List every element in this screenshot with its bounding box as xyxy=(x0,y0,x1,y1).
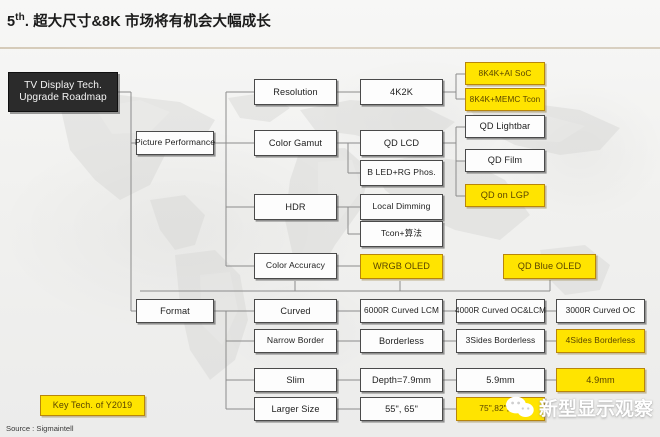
node-6000r-curved-lcm[interactable]: 6000R Curved LCM xyxy=(360,299,443,323)
node-3000r-curved-oc[interactable]: 3000R Curved OC xyxy=(556,299,645,323)
node-picture-performance[interactable]: Picture Performance xyxy=(136,131,214,155)
node-3sides-borderless[interactable]: 3Sides Borderless xyxy=(456,329,545,353)
node-4000r-curved-oc-lcm[interactable]: 4000R Curved OC&LCM xyxy=(456,299,545,323)
node-resolution[interactable]: Resolution xyxy=(254,79,337,105)
node-qd-lightbar[interactable]: QD Lightbar xyxy=(465,115,545,138)
node-8k4k-memc-tcon[interactable]: 8K4K+MEMC Tcon xyxy=(465,88,545,111)
node-borderless[interactable]: Borderless xyxy=(360,329,443,353)
source-note: Source : Sigmaintell xyxy=(6,424,74,433)
node-4k2k[interactable]: 4K2K xyxy=(360,79,443,105)
node-bled-rg-phosphor[interactable]: B LED+RG Phos. xyxy=(360,160,443,186)
node-size-75-82-85[interactable]: 75",82",85" xyxy=(456,397,545,421)
roadmap-slide: 5th. 超大尺寸&8K 市场将有机会大幅成长 xyxy=(0,0,660,437)
node-depth-4-9mm[interactable]: 4.9mm xyxy=(556,368,645,392)
node-4sides-borderless[interactable]: 4Sides Borderless xyxy=(556,329,645,353)
node-qd-on-lgp[interactable]: QD on LGP xyxy=(465,184,545,207)
node-narrow-border[interactable]: Narrow Border xyxy=(254,329,337,353)
node-depth-5-9mm[interactable]: 5.9mm xyxy=(456,368,545,392)
node-8k4k-ai-soc[interactable]: 8K4K+AI SoC xyxy=(465,62,545,85)
node-color-accuracy[interactable]: Color Accuracy xyxy=(254,253,337,279)
node-qd-lcd[interactable]: QD LCD xyxy=(360,130,443,156)
node-depth-7-9mm[interactable]: Depth=7.9mm xyxy=(360,368,443,392)
node-wrgb-oled[interactable]: WRGB OLED xyxy=(360,254,443,279)
node-qd-film[interactable]: QD Film xyxy=(465,149,545,172)
node-curved[interactable]: Curved xyxy=(254,299,337,323)
node-larger-size[interactable]: Larger Size xyxy=(254,397,337,421)
node-hdr[interactable]: HDR xyxy=(254,194,337,220)
node-size-55-65[interactable]: 55", 65" xyxy=(360,397,443,421)
legend-key-tech: Key Tech. of Y2019 xyxy=(40,395,145,416)
node-root-line2: Upgrade Roadmap xyxy=(19,92,107,104)
node-qd-blue-oled[interactable]: QD Blue OLED xyxy=(503,254,596,279)
node-format[interactable]: Format xyxy=(136,299,214,323)
node-tcon-algorithm[interactable]: Tcon+算法 xyxy=(360,221,443,247)
node-slim[interactable]: Slim xyxy=(254,368,337,392)
node-color-gamut[interactable]: Color Gamut xyxy=(254,130,337,156)
node-root-line1: TV Display Tech. xyxy=(24,80,102,92)
node-local-dimming[interactable]: Local Dimming xyxy=(360,194,443,220)
node-root[interactable]: TV Display Tech. Upgrade Roadmap xyxy=(8,72,118,112)
